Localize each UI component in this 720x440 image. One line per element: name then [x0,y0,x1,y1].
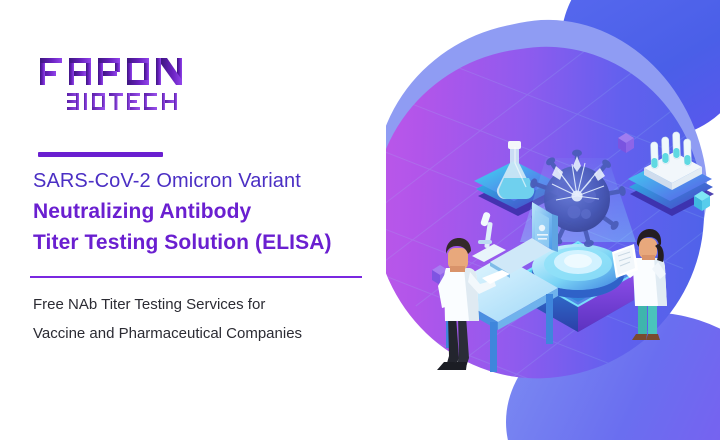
headline-line-3: Titer Testing Solution (ELISA) [33,229,393,256]
headline-line-1: SARS-CoV-2 Omicron Variant [33,168,393,194]
logo-wordmark-biotech [67,93,177,110]
headline-line-2: Neutralizing Antibody [33,198,393,225]
microscope-icon [472,211,506,262]
marketing-banner: SARS-CoV-2 Omicron Variant Neutralizing … [0,0,720,440]
divider-rule [30,276,362,278]
subtitle-line-1: Free NAb Titer Testing Services for [33,290,403,319]
fapon-biotech-logomark [38,52,198,114]
brand-logo [38,52,198,114]
text-panel: SARS-CoV-2 Omicron Variant Neutralizing … [0,0,400,440]
accent-bar [38,152,163,157]
lab-scene [386,0,720,440]
headline-block: SARS-CoV-2 Omicron Variant Neutralizing … [33,168,393,257]
subtitle-line-2: Vaccine and Pharmaceutical Companies [33,319,403,348]
illustration-panel [386,0,720,440]
subtitle-block: Free NAb Titer Testing Services for Vacc… [33,290,403,349]
logo-wordmark-fapon [40,58,182,85]
floating-cube-icon [618,133,634,153]
